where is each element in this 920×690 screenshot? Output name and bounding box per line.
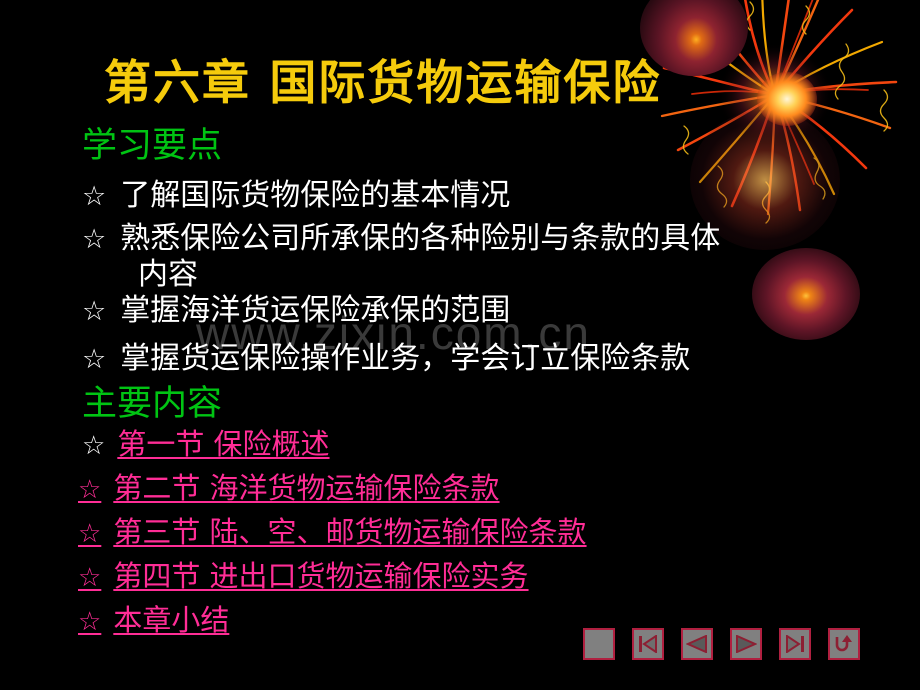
star-bullet-icon: ☆ bbox=[82, 433, 105, 459]
toc-link-section-2[interactable]: ☆ 第二节 海洋货物运输保险条款 bbox=[78, 465, 500, 507]
toc-link-section-1[interactable]: ☆ 第一节 保险概述 bbox=[82, 421, 330, 463]
toc-link-label[interactable]: 第一节 保险概述 bbox=[117, 421, 329, 463]
toc-link-label[interactable]: 第二节 海洋货物运输保险条款 bbox=[113, 465, 499, 507]
list-item: ☆ 掌握货运保险操作业务，学会订立保险条款 bbox=[82, 333, 690, 377]
stop-button[interactable] bbox=[583, 628, 615, 660]
star-bullet-icon: ☆ bbox=[78, 477, 101, 503]
star-bullet-icon: ☆ bbox=[82, 183, 106, 210]
skip-to-end-icon bbox=[785, 635, 805, 653]
section-heading-study-points: 学习要点 bbox=[82, 117, 222, 168]
list-item-label: 掌握海洋货运保险承保的范围 bbox=[120, 285, 510, 329]
skip-to-start-icon bbox=[638, 635, 658, 653]
last-slide-button[interactable] bbox=[779, 628, 811, 660]
star-bullet-icon: ☆ bbox=[78, 521, 101, 547]
section-heading-main-content: 主要内容 bbox=[82, 375, 222, 426]
toc-link-chapter-summary[interactable]: ☆ 本章小结 bbox=[78, 597, 229, 639]
return-button[interactable] bbox=[828, 628, 860, 660]
toc-link-label[interactable]: 第四节 进出口货物运输保险实务 bbox=[113, 553, 528, 595]
return-uturn-arrow-icon bbox=[833, 634, 855, 654]
presentation-slide: www.zixin.com.cn 第六章 国际货物运输保险 学习要点 ☆ 了解国… bbox=[0, 0, 920, 690]
firework-orb-lower bbox=[752, 248, 860, 340]
star-bullet-icon: ☆ bbox=[78, 609, 101, 635]
firework-burst-core bbox=[757, 72, 817, 126]
list-item: ☆ 了解国际货物保险的基本情况 bbox=[82, 170, 510, 214]
toc-link-label[interactable]: 第三节 陆、空、邮货物运输保险条款 bbox=[113, 509, 586, 551]
list-item-label: 掌握货运保险操作业务，学会订立保险条款 bbox=[120, 333, 690, 377]
star-bullet-icon: ☆ bbox=[78, 565, 101, 591]
star-bullet-icon: ☆ bbox=[82, 346, 106, 373]
star-bullet-icon: ☆ bbox=[82, 226, 106, 253]
toc-link-label[interactable]: 本章小结 bbox=[113, 597, 229, 639]
star-bullet-icon: ☆ bbox=[82, 298, 106, 325]
slide-navigation-bar bbox=[583, 628, 860, 660]
list-item: ☆ 掌握海洋货运保险承保的范围 bbox=[82, 285, 510, 329]
page-title: 第六章 国际货物运输保险 bbox=[104, 44, 661, 113]
next-triangle-icon bbox=[735, 635, 757, 653]
next-slide-button[interactable] bbox=[730, 628, 762, 660]
toc-link-section-3[interactable]: ☆ 第三节 陆、空、邮货物运输保险条款 bbox=[78, 509, 587, 551]
first-slide-button[interactable] bbox=[632, 628, 664, 660]
previous-slide-button[interactable] bbox=[681, 628, 713, 660]
list-item-label: 了解国际货物保险的基本情况 bbox=[120, 170, 510, 214]
toc-link-section-4[interactable]: ☆ 第四节 进出口货物运输保险实务 bbox=[78, 553, 529, 595]
list-item-label: 熟悉保险公司所承保的各种险别与条款的具体 bbox=[120, 213, 720, 257]
previous-triangle-icon bbox=[686, 635, 708, 653]
